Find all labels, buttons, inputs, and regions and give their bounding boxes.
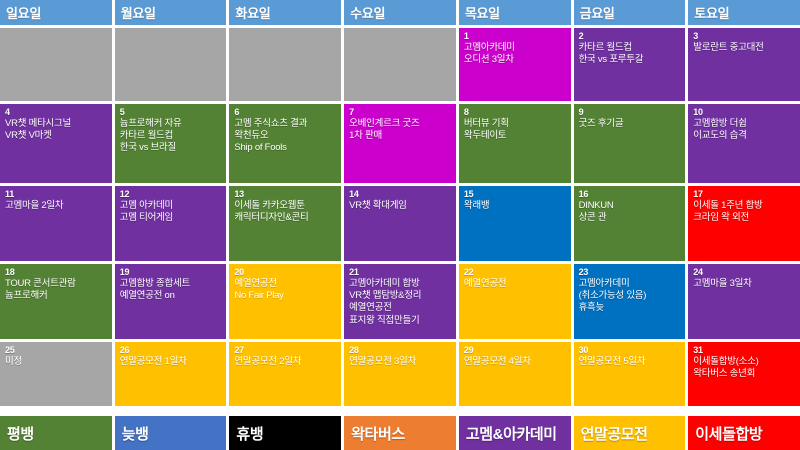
event-label: 휴흑늦 (579, 302, 682, 314)
event-label: TOUR 콘서트관람 (5, 278, 108, 290)
day-number: 1 (464, 31, 567, 42)
day-cell-9[interactable]: 9굿즈 후기글 (574, 104, 686, 183)
day-cell-20[interactable]: 20예열연공전No Fair Play (229, 264, 341, 339)
day-cell-4[interactable]: 4VR챗 메타시그널VR챗 V마켓 (0, 104, 112, 183)
event-label: 이세돌 1주년 합방 (693, 200, 796, 212)
event-label: 연말공모전 4일차 (464, 356, 567, 368)
day-number: 12 (120, 189, 223, 200)
day-cell-16[interactable]: 16DINKUN상콘 관 (574, 186, 686, 261)
day-cell-empty[interactable] (344, 28, 456, 101)
event-label: 연말공모전 5일차 (579, 356, 682, 368)
weekday-header-0: 일요일 (0, 0, 112, 25)
event-label: 한국 vs 브라질 (120, 142, 223, 154)
weekday-header-4: 목요일 (459, 0, 571, 25)
weekday-header-row: 일요일월요일화요일수요일목요일금요일토요일 (0, 0, 800, 25)
event-label: 크라임 왁 외전 (693, 212, 796, 224)
week-row: 4VR챗 메타시그널VR챗 V마켓5늅프로해커 자유카타르 월드컵한국 vs 브… (0, 104, 800, 183)
event-label: 예열연공전 on (120, 290, 223, 302)
day-number: 23 (579, 267, 682, 278)
day-number: 9 (579, 107, 682, 118)
day-number: 14 (349, 189, 452, 200)
day-number: 16 (579, 189, 682, 200)
day-cell-29[interactable]: 29연말공모전 4일차 (459, 342, 571, 406)
day-cell-17[interactable]: 17이세돌 1주년 합방크라임 왁 외전 (688, 186, 800, 261)
day-number: 7 (349, 107, 452, 118)
event-label: 오디션 3일차 (464, 54, 567, 66)
event-label: 1차 판매 (349, 130, 452, 142)
event-label: 발로란트 중고대전 (693, 42, 796, 54)
day-cell-21[interactable]: 21고멤아카데미 합방VR챗 맵탐방&정리예열연공전표지왕 직접만들기 (344, 264, 456, 339)
day-number: 6 (234, 107, 337, 118)
event-label: 상콘 관 (579, 212, 682, 224)
calendar-weeks: 1고멤아카데미오디션 3일차2카타르 월드컵한국 vs 포루투갈3발로란트 중고… (0, 25, 800, 413)
event-label: 왁두테이토 (464, 130, 567, 142)
event-label: 왁래뱅 (464, 200, 567, 212)
event-label: 늅프로해커 (5, 290, 108, 302)
day-cell-30[interactable]: 30연말공모전 5일차 (574, 342, 686, 406)
event-label: 고멤 티어게임 (120, 212, 223, 224)
event-label: 고멤합방 더쉽 (693, 118, 796, 130)
event-label: 고멤합방 종합세트 (120, 278, 223, 290)
day-number: 11 (5, 189, 108, 200)
day-number: 30 (579, 345, 682, 356)
legend-item-3[interactable]: 왁타버스 (344, 416, 456, 450)
day-cell-empty[interactable] (115, 28, 227, 101)
weekday-header-1: 월요일 (115, 0, 227, 25)
event-label: 예열연공전 (349, 302, 452, 314)
day-cell-5[interactable]: 5늅프로해커 자유카타르 월드컵한국 vs 브라질 (115, 104, 227, 183)
day-cell-empty[interactable] (0, 28, 112, 101)
week-row: 11고멤마을 2일차12고멤 아카데미고멤 티어게임13이세돌 카카오웹툰캐릭터… (0, 186, 800, 261)
event-label: 오베인계르크 굿즈 (349, 118, 452, 130)
day-cell-28[interactable]: 28연말공모전 3일차 (344, 342, 456, 406)
day-number: 21 (349, 267, 452, 278)
event-label: VR챗 V마켓 (5, 130, 108, 142)
day-number: 18 (5, 267, 108, 278)
day-number: 25 (5, 345, 108, 356)
event-label: 고멤마을 2일차 (5, 200, 108, 212)
event-label: (취소가능성 있음) (579, 290, 682, 302)
event-label: 왁천듀오 (234, 130, 337, 142)
day-cell-22[interactable]: 22예열연공전 (459, 264, 571, 339)
event-label: 왁타버스 송년회 (693, 368, 796, 380)
day-cell-13[interactable]: 13이세돌 카카오웹툰캐릭터디자인&콘티 (229, 186, 341, 261)
day-cell-25[interactable]: 25미정 (0, 342, 112, 406)
day-number: 31 (693, 345, 796, 356)
event-label: 고멤마을 3일차 (693, 278, 796, 290)
event-label: 고멤 주식쇼츠 결과 (234, 118, 337, 130)
day-number: 10 (693, 107, 796, 118)
day-cell-14[interactable]: 14VR챗 확대게임 (344, 186, 456, 261)
day-number: 17 (693, 189, 796, 200)
day-cell-15[interactable]: 15왁래뱅 (459, 186, 571, 261)
day-number: 19 (120, 267, 223, 278)
event-label: VR챗 확대게임 (349, 200, 452, 212)
event-label: 이교도의 습격 (693, 130, 796, 142)
day-cell-10[interactable]: 10고멤합방 더쉽이교도의 습격 (688, 104, 800, 183)
day-cell-31[interactable]: 31이세돌합방(소소)왁타버스 송년회 (688, 342, 800, 406)
event-label: 고멤아카데미 합방 (349, 278, 452, 290)
event-label: 한국 vs 포루투갈 (579, 54, 682, 66)
event-label: No Fair Play (234, 290, 337, 302)
week-row: 25미정26연말공모전 1일차27연말공모전 2일차28연말공모전 3일차29연… (0, 342, 800, 406)
legend-item-0[interactable]: 평뱅 (0, 416, 112, 450)
event-label: VR챗 메타시그널 (5, 118, 108, 130)
day-cell-24[interactable]: 24고멤마을 3일차 (688, 264, 800, 339)
event-label: 이세돌합방(소소) (693, 356, 796, 368)
weekday-header-5: 금요일 (574, 0, 686, 25)
legend-item-1[interactable]: 늦뱅 (115, 416, 227, 450)
day-number: 29 (464, 345, 567, 356)
day-cell-7[interactable]: 7오베인계르크 굿즈1차 판매 (344, 104, 456, 183)
event-label: 고멤아카데미 (579, 278, 682, 290)
day-number: 28 (349, 345, 452, 356)
event-label: 연말공모전 2일차 (234, 356, 337, 368)
event-label: Ship of Fools (234, 142, 337, 154)
legend-item-2[interactable]: 휴뱅 (229, 416, 341, 450)
day-number: 27 (234, 345, 337, 356)
event-label: 카타르 월드컵 (579, 42, 682, 54)
weekday-header-6: 토요일 (688, 0, 800, 25)
day-number: 20 (234, 267, 337, 278)
day-cell-6[interactable]: 6고멤 주식쇼츠 결과왁천듀오Ship of Fools (229, 104, 341, 183)
event-label: 이세돌 카카오웹툰 (234, 200, 337, 212)
day-number: 2 (579, 31, 682, 42)
day-cell-2[interactable]: 2카타르 월드컵한국 vs 포루투갈 (574, 28, 686, 101)
event-label: 늅프로해커 자유 (120, 118, 223, 130)
event-label: 예열연공전 (234, 278, 337, 290)
day-number: 3 (693, 31, 796, 42)
day-cell-18[interactable]: 18TOUR 콘서트관람늅프로해커 (0, 264, 112, 339)
event-label: 카타르 월드컵 (120, 130, 223, 142)
legend-row: 평뱅늦뱅휴뱅왁타버스고멤&아카데미연말공모전이세돌합방 (0, 416, 800, 450)
day-number: 22 (464, 267, 567, 278)
day-cell-23[interactable]: 23고멤아카데미(취소가능성 있음)휴흑늦 (574, 264, 686, 339)
day-number: 24 (693, 267, 796, 278)
day-number: 5 (120, 107, 223, 118)
day-cell-8[interactable]: 8버터뷰 기획왁두테이토 (459, 104, 571, 183)
day-cell-1[interactable]: 1고멤아카데미오디션 3일차 (459, 28, 571, 101)
event-label: 예열연공전 (464, 278, 567, 290)
day-cell-3[interactable]: 3발로란트 중고대전 (688, 28, 800, 101)
calendar-container: 일요일월요일화요일수요일목요일금요일토요일 1고멤아카데미오디션 3일차2카타르… (0, 0, 800, 450)
day-cell-11[interactable]: 11고멤마을 2일차 (0, 186, 112, 261)
week-row: 1고멤아카데미오디션 3일차2카타르 월드컵한국 vs 포루투갈3발로란트 중고… (0, 28, 800, 101)
day-cell-empty[interactable] (229, 28, 341, 101)
event-label: 버터뷰 기획 (464, 118, 567, 130)
day-cell-12[interactable]: 12고멤 아카데미고멤 티어게임 (115, 186, 227, 261)
day-cell-19[interactable]: 19고멤합방 종합세트예열연공전 on (115, 264, 227, 339)
day-number: 26 (120, 345, 223, 356)
legend-item-6[interactable]: 이세돌합방 (688, 416, 800, 450)
event-label: VR챗 맵탐방&정리 (349, 290, 452, 302)
day-number: 4 (5, 107, 108, 118)
day-number: 8 (464, 107, 567, 118)
event-label: 연말공모전 1일차 (120, 356, 223, 368)
event-label: DINKUN (579, 200, 682, 212)
day-number: 15 (464, 189, 567, 200)
event-label: 고멤아카데미 (464, 42, 567, 54)
event-label: 연말공모전 3일차 (349, 356, 452, 368)
day-cell-26[interactable]: 26연말공모전 1일차 (115, 342, 227, 406)
week-row: 18TOUR 콘서트관람늅프로해커19고멤합방 종합세트예열연공전 on20예열… (0, 264, 800, 339)
event-label: 굿즈 후기글 (579, 118, 682, 130)
legend-item-4[interactable]: 고멤&아카데미 (459, 416, 571, 450)
weekday-header-3: 수요일 (344, 0, 456, 25)
day-cell-27[interactable]: 27연말공모전 2일차 (229, 342, 341, 406)
event-label: 미정 (5, 356, 108, 368)
event-label: 고멤 아카데미 (120, 200, 223, 212)
weekday-header-2: 화요일 (229, 0, 341, 25)
event-label: 표지왕 직접만들기 (349, 315, 452, 327)
event-label: 캐릭터디자인&콘티 (234, 212, 337, 224)
day-number: 13 (234, 189, 337, 200)
legend-item-5[interactable]: 연말공모전 (574, 416, 686, 450)
